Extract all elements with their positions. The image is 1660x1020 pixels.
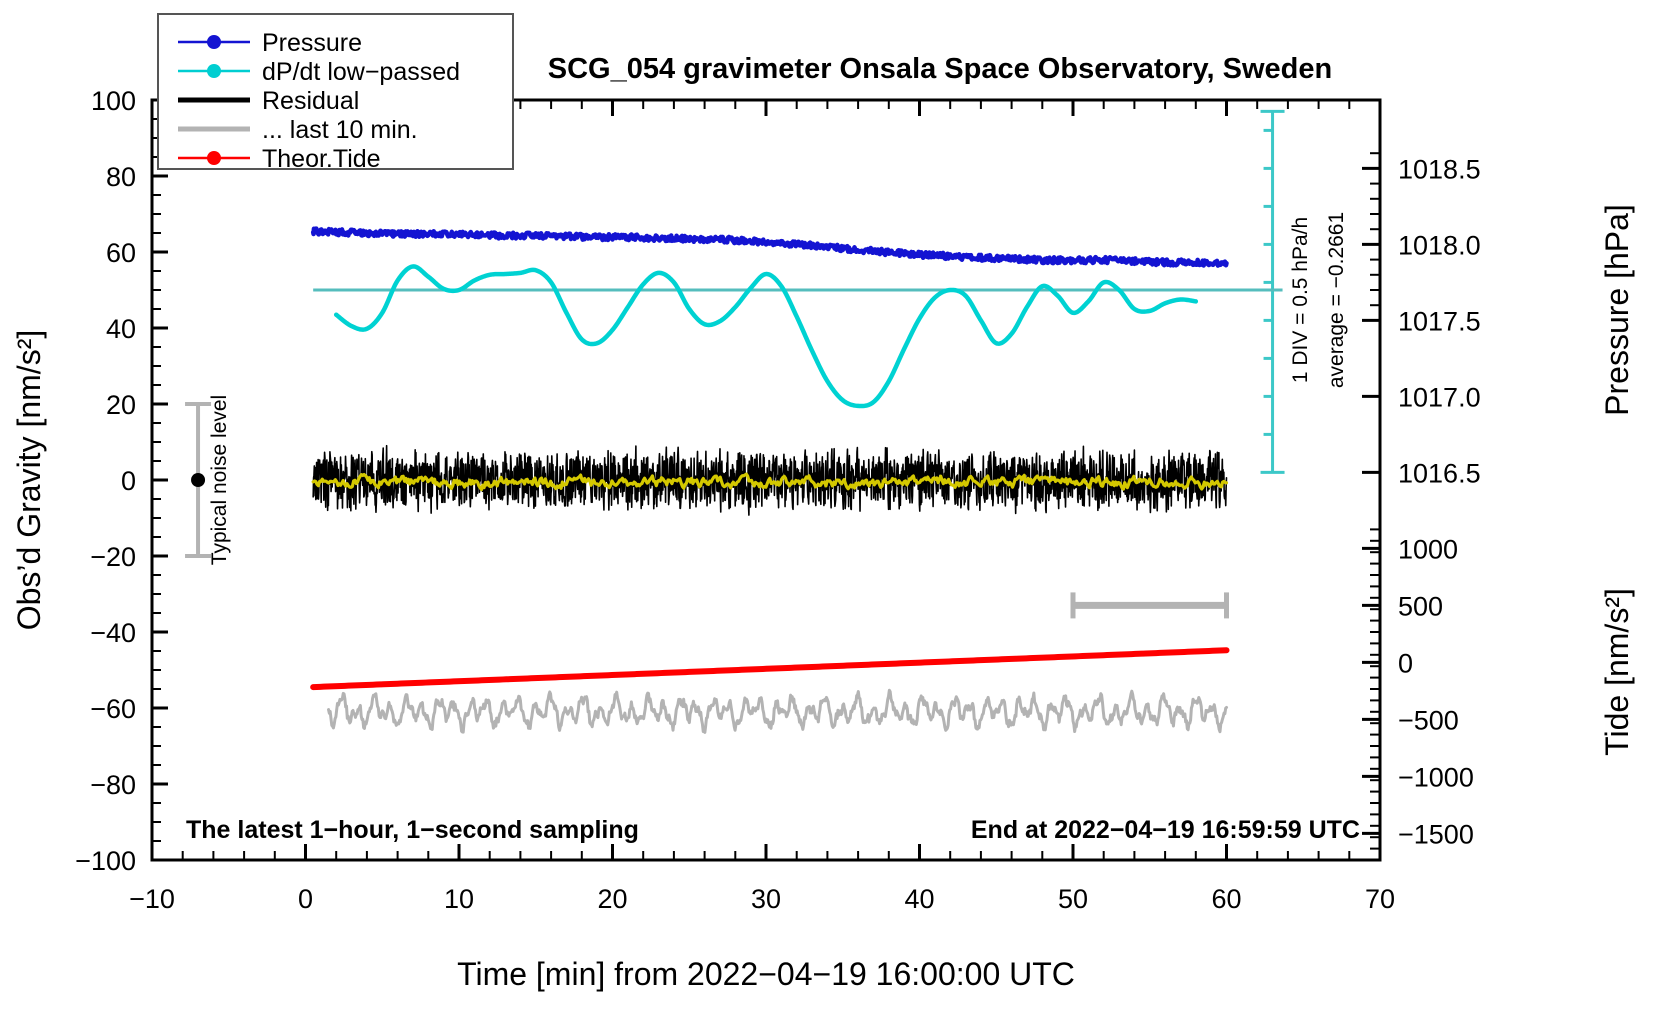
x-axis-title: Time [min] from 2022−04−19 16:00:00 UTC (457, 956, 1075, 992)
y-tick-label: −60 (90, 694, 136, 724)
legend-item-label: Pressure (262, 29, 362, 57)
tide-tick-label: 500 (1398, 591, 1443, 621)
y-tick-label: 80 (106, 162, 136, 192)
legend-item-label: ... last 10 min. (262, 116, 418, 144)
x-tick-label: 60 (1211, 884, 1241, 914)
y-tick-label: 20 (106, 390, 136, 420)
y-tick-label: 60 (106, 238, 136, 268)
legend-item-label: Residual (262, 87, 359, 115)
y-tick-label: 40 (106, 314, 136, 344)
x-tick-label: 0 (298, 884, 313, 914)
tide-tick-label: −500 (1398, 705, 1459, 735)
x-tick-label: 50 (1058, 884, 1088, 914)
y-tick-label: −20 (90, 542, 136, 572)
legend-item-label: dP/dt low−passed (262, 58, 460, 86)
tide-tick-label: −1500 (1398, 819, 1474, 849)
y-tick-label: −40 (90, 618, 136, 648)
tide-tick-label: 0 (1398, 648, 1413, 678)
dpdt-div-label: 1 DIV = 0.5 hPa/h (1289, 217, 1312, 383)
tide-tick-label: 1000 (1398, 534, 1458, 564)
x-tick-label: 20 (597, 884, 627, 914)
pressure-tick-label: 1016.5 (1398, 458, 1481, 488)
legend-marker-icon (207, 35, 221, 49)
x-tick-label: 70 (1365, 884, 1395, 914)
y-tick-label: −80 (90, 770, 136, 800)
y-axis-pressure-title: Pressure [hPa] (1599, 204, 1635, 416)
typical-noise-level-label: Typical noise level (208, 395, 231, 565)
dpdt-average-label: average = −0.2661 (1325, 212, 1348, 388)
legend-item-label: Theor.Tide (262, 145, 381, 173)
x-tick-label: −10 (129, 884, 175, 914)
pressure-tick-label: 1018.0 (1398, 230, 1481, 260)
y-tick-label: 100 (91, 86, 136, 116)
legend-marker-icon (207, 151, 221, 165)
tide-tick-label: −1000 (1398, 762, 1474, 792)
x-tick-label: 40 (904, 884, 934, 914)
y-axis-left-title: Obs’d Gravity [nm/s²] (11, 330, 47, 631)
x-tick-label: 10 (444, 884, 474, 914)
pressure-tick-label: 1017.5 (1398, 306, 1481, 336)
page-title: SCG_054 gravimeter Onsala Space Observat… (548, 53, 1332, 85)
y-axis-tide-title: Tide [nm/s²] (1599, 588, 1635, 756)
annotation-bottom-right: End at 2022−04−19 16:59:59 UTC (971, 816, 1360, 844)
annotation-bottom-left: The latest 1−hour, 1−second sampling (186, 816, 639, 844)
y-tick-label: 0 (121, 466, 136, 496)
pressure-tick-label: 1017.0 (1398, 382, 1481, 412)
pressure-tick-label: 1018.5 (1398, 154, 1481, 184)
x-tick-label: 30 (751, 884, 781, 914)
chart-page: −10010203040506070 100806040200−20−40−60… (0, 0, 1660, 1020)
y-tick-label: −100 (75, 846, 136, 876)
legend-marker-icon (207, 64, 221, 78)
legend: PressuredP/dt low−passedResidual... last… (158, 14, 513, 173)
gravimeter-chart: −10010203040506070 100806040200−20−40−60… (0, 0, 1660, 1020)
